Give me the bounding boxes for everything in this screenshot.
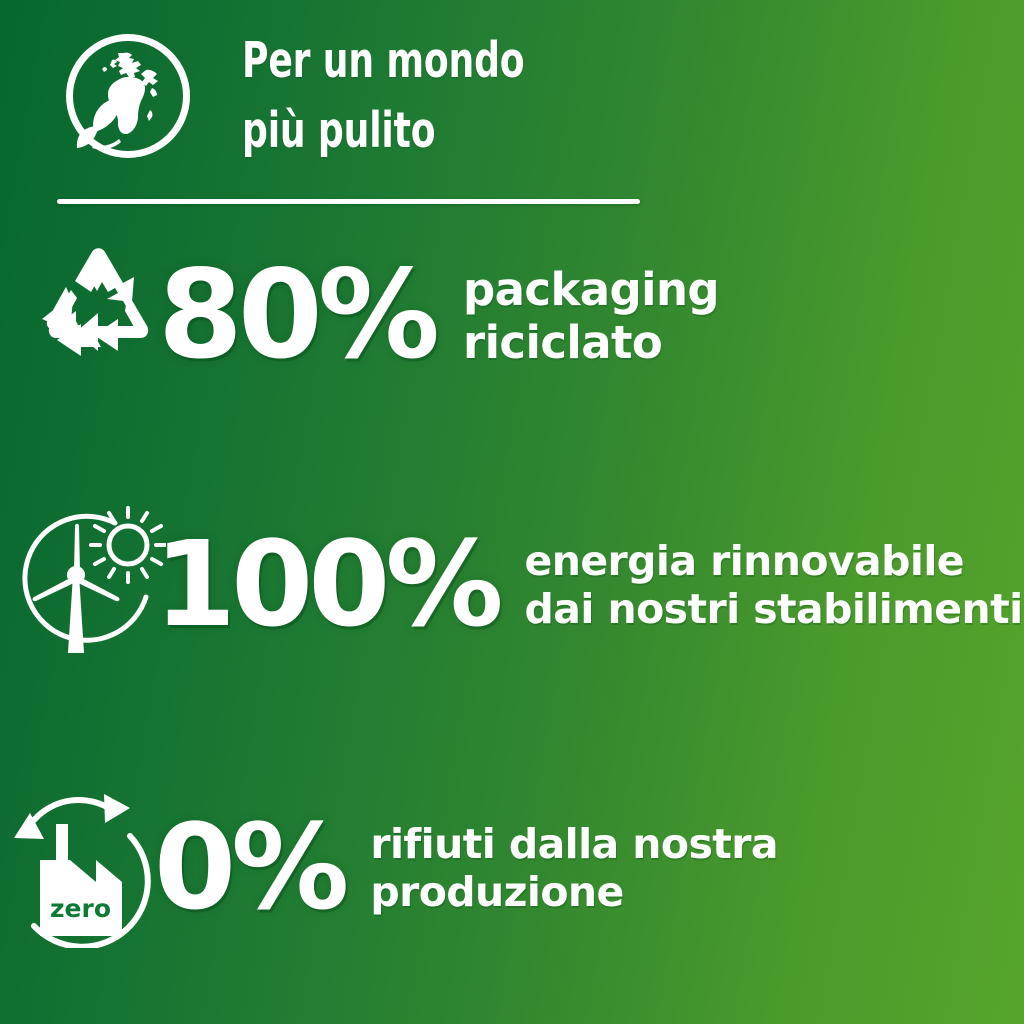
header-divider xyxy=(57,199,640,204)
stat-renewable-energy: 100% energia rinnovabile dai nostri stab… xyxy=(18,505,1023,665)
header: Per un mondo più pulito xyxy=(56,26,586,166)
stat-value-energy: 100% xyxy=(154,534,499,635)
stat-recycled-packaging: 80% packaging riciclato xyxy=(26,245,719,385)
stat-value-recycled: 80% xyxy=(158,263,435,368)
recycling-symbol-icon xyxy=(26,245,176,385)
stat-caption-waste: rifiuti dalla nostra produzione xyxy=(370,821,778,917)
stat-zero-waste: zero 0% rifiuti dalla nostra produzione xyxy=(4,788,778,948)
page-title: Per un mondo più pulito xyxy=(242,26,524,165)
globe-leaf-icon xyxy=(56,26,196,166)
wind-turbine-sun-icon xyxy=(18,505,166,665)
stat-caption-recycled: packaging riciclato xyxy=(463,264,719,369)
zero-waste-label: zero xyxy=(50,894,111,923)
stat-caption-energy: energia rinnovabile dai nostri stabilime… xyxy=(525,538,1023,634)
zero-waste-factory-icon: zero xyxy=(4,788,160,948)
sustainability-infographic: Per un mondo più pulito xyxy=(0,0,1024,1024)
stat-value-waste: 0% xyxy=(154,817,344,918)
